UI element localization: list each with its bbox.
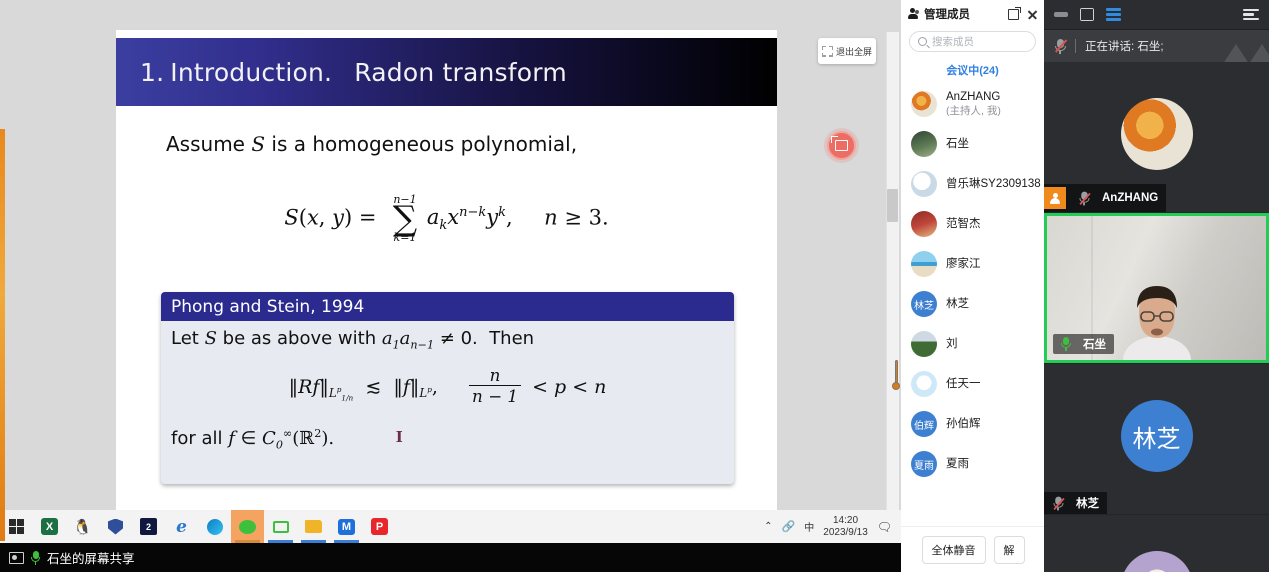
screen-share-status-strip: 石坐的屏幕共享 xyxy=(0,543,901,572)
system-tray: ⌃ 🔗 中 14:20 2023/9/13 🗨 xyxy=(764,515,901,538)
shared-app-scrollbar-track[interactable] xyxy=(886,32,899,510)
search-input[interactable] xyxy=(932,36,1027,48)
participant-name: 范智杰 xyxy=(946,217,981,231)
participant-name: 林芝 xyxy=(946,297,969,311)
slide-title-sub: Radon transform xyxy=(354,58,567,87)
participants-panel: 管理成员 会议中(24) AnZHANG(主持人, 我)石坐曾乐琳SY23091… xyxy=(901,0,1045,572)
participant-name: 任天一 xyxy=(946,377,981,391)
participant-role: (主持人, 我) xyxy=(946,105,1001,118)
wechat-icon xyxy=(239,520,256,534)
taskbar-item-tencent-meeting[interactable]: M xyxy=(330,510,363,543)
participants-title: 管理成员 xyxy=(924,6,970,22)
show-hidden-icons-chevron[interactable]: ⌃ xyxy=(764,521,772,532)
microphone-on-icon xyxy=(31,551,40,565)
video-tile-name: 林芝 xyxy=(1076,495,1099,511)
video-tile[interactable]: AnZHANG xyxy=(1044,62,1269,212)
participant-name: 夏雨 xyxy=(946,457,969,471)
slide-title: 1.Introduction.Radon transform xyxy=(116,58,567,87)
participant-row[interactable]: 任天一 xyxy=(901,364,1044,404)
microphone-on-icon xyxy=(1061,337,1071,351)
search-icon xyxy=(918,37,927,46)
video-tile[interactable]: 石坐 xyxy=(1044,213,1269,363)
screen-share-icon xyxy=(273,521,289,533)
avatar xyxy=(911,211,937,237)
slide-title-bar: 1.Introduction.Radon transform xyxy=(116,38,777,106)
theorem-line-3: for all f ∈ C0∞(ℝ2). I xyxy=(161,407,734,452)
excel-icon: X xyxy=(41,518,58,535)
avatar: 伯辉 xyxy=(911,411,937,437)
eq-condition: n xyxy=(544,205,558,229)
participants-list[interactable]: AnZHANG(主持人, 我)石坐曾乐琳SY2309138范智杰廖家江林芝林芝刘… xyxy=(901,84,1044,508)
edge-icon xyxy=(207,519,223,535)
screen-share-border-indicator xyxy=(0,129,5,541)
video-tile[interactable]: 林芝林芝 xyxy=(1044,364,1269,514)
displayed-equation: S(x, y) = n−1 ∑ k=1 akxn−kyk, n ≥ 3. xyxy=(116,194,777,244)
participant-row[interactable]: 廖家江 xyxy=(901,244,1044,284)
taskbar-item-excel[interactable]: X xyxy=(33,510,66,543)
theorem-title: Phong and Stein, 1994 xyxy=(171,297,364,317)
share-screen-icon xyxy=(835,140,848,151)
watermark-logo xyxy=(1223,34,1269,62)
avatar xyxy=(1121,551,1193,572)
collapse-sidebar-icon[interactable] xyxy=(1243,9,1259,21)
people-icon xyxy=(907,8,920,20)
participant-row[interactable]: 夏雨夏雨 xyxy=(901,444,1044,484)
slide-body: Assume S is a homogeneous polynomial, S(… xyxy=(116,106,777,510)
sum-lower-limit: k=1 xyxy=(393,232,417,244)
unmute-all-button[interactable]: 解 xyxy=(994,536,1025,564)
video-tile-nametag: AnZHANG xyxy=(1044,184,1166,212)
screen-icon xyxy=(9,552,24,564)
avatar: 夏雨 xyxy=(911,451,937,477)
shared-screen-region: 1.Introduction.Radon transform Assume S … xyxy=(0,0,901,572)
participant-name: 孙伯辉 xyxy=(946,417,981,431)
taskbar-item-game[interactable]: 2 xyxy=(132,510,165,543)
internet-explorer-icon: e xyxy=(176,517,187,537)
taskbar-item-screen-share[interactable] xyxy=(264,510,297,543)
divider xyxy=(1075,39,1076,53)
avatar xyxy=(911,131,937,157)
taskbar-item-microsoft-edge[interactable] xyxy=(198,510,231,543)
game-icon: 2 xyxy=(140,518,157,535)
participant-row[interactable]: 范智杰 xyxy=(901,204,1044,244)
microphone-muted-icon xyxy=(1078,191,1089,205)
avatar xyxy=(911,171,937,197)
taskbar-clock[interactable]: 14:20 2023/9/13 xyxy=(823,515,868,538)
participants-section-label: 会议中(24) xyxy=(901,58,1044,84)
avatar xyxy=(911,371,937,397)
thermometer-icon xyxy=(892,360,900,396)
host-badge xyxy=(1044,187,1066,209)
restore-window-icon[interactable] xyxy=(1080,8,1094,21)
participant-name: 廖家江 xyxy=(946,257,981,271)
close-icon[interactable] xyxy=(1027,9,1038,20)
eq-term: akxn−kyk xyxy=(427,205,506,229)
avatar: 林芝 xyxy=(911,291,937,317)
participants-search-wrap xyxy=(901,28,1044,58)
shared-app-scrollbar-thumb[interactable] xyxy=(887,189,898,222)
share-status-label: 石坐的屏幕共享 xyxy=(47,548,135,567)
video-tile-nametag: 林芝 xyxy=(1044,492,1107,514)
exit-fullscreen-button[interactable]: 退出全屏 xyxy=(818,38,876,64)
ime-indicator[interactable]: 中 xyxy=(804,519,814,534)
windows-taskbar: X 🐧 2 e xyxy=(0,510,901,543)
participant-name: AnZHANG(主持人, 我) xyxy=(946,90,1001,118)
slide-title-main: Introduction. xyxy=(170,58,332,87)
video-tile-name: 石坐 xyxy=(1083,336,1106,352)
avatar: 林芝 xyxy=(1121,400,1193,472)
assume-text-a: Assume xyxy=(166,132,245,156)
video-sidebar: 正在讲话: 石坐; AnZHANG石坐林芝林芝魏银璐 xyxy=(1044,0,1269,572)
slide-title-number: 1. xyxy=(140,58,164,87)
microphone-muted-icon xyxy=(1054,39,1066,54)
text-cursor-ibeam: I xyxy=(396,428,403,446)
video-tile[interactable]: 魏银璐 xyxy=(1044,515,1269,572)
taskbar-item-file-explorer[interactable] xyxy=(297,510,330,543)
tencent-meeting-icon: M xyxy=(338,519,355,535)
video-panel-titlebar xyxy=(1044,0,1269,30)
minimize-icon[interactable] xyxy=(1054,12,1068,17)
layout-view-icon[interactable] xyxy=(1106,8,1121,21)
folder-icon xyxy=(305,520,322,533)
popout-icon[interactable] xyxy=(1008,9,1019,20)
assume-line: Assume S is a homogeneous polynomial, xyxy=(166,132,577,156)
participant-row[interactable]: 曾乐琳SY2309138 xyxy=(901,164,1044,204)
avatar xyxy=(911,251,937,277)
exit-fullscreen-label: 退出全屏 xyxy=(836,45,872,58)
participant-row[interactable]: 石坐 xyxy=(901,124,1044,164)
eq-lhs: S xyxy=(284,205,298,229)
video-tiles-container: AnZHANG石坐林芝林芝魏银璐 xyxy=(1044,62,1269,572)
participant-row[interactable]: AnZHANG(主持人, 我) xyxy=(901,84,1044,124)
participant-row[interactable]: 林芝林芝 xyxy=(901,284,1044,324)
sum-symbol: ∑ xyxy=(393,206,417,233)
participant-name: 石坐 xyxy=(946,137,969,151)
assume-variable: S xyxy=(251,132,265,156)
avatar xyxy=(911,331,937,357)
fraction-numerator: n xyxy=(469,367,521,385)
theorem-equation: ‖Rf‖Lp1/n ≲ ‖f‖Lp, n n − 1 < p < n xyxy=(161,368,734,408)
fraction: n n − 1 xyxy=(469,367,521,407)
theorem-box: Phong and Stein, 1994 Let S be as above … xyxy=(161,292,734,484)
fullscreen-icon xyxy=(822,46,833,57)
taskbar-item-wechat[interactable] xyxy=(231,510,264,543)
participants-footer: 全体静音 解 xyxy=(901,526,1045,572)
avatar xyxy=(911,91,937,117)
notification-center-icon[interactable]: 🗨 xyxy=(877,520,892,534)
clock-date: 2023/9/13 xyxy=(823,527,868,538)
shield-icon xyxy=(108,519,123,535)
microphone-muted-icon xyxy=(1052,496,1063,510)
link-icon[interactable]: 🔗 xyxy=(782,520,796,533)
taskbar-item-internet-explorer[interactable]: e xyxy=(165,510,198,543)
search-box[interactable] xyxy=(909,31,1036,52)
avatar xyxy=(1121,98,1193,170)
participant-name: 刘 xyxy=(946,337,958,351)
now-speaking-bar: 正在讲话: 石坐; xyxy=(1044,30,1269,62)
participants-header: 管理成员 xyxy=(901,0,1044,28)
now-speaking-label: 正在讲话: 石坐; xyxy=(1085,38,1164,54)
taskbar-item-qq[interactable]: 🐧 xyxy=(66,510,99,543)
assume-text-b: is a homogeneous polynomial, xyxy=(271,132,577,156)
theorem-line-1: Let S be as above with a1an−1 ≠ 0. Then xyxy=(161,321,734,352)
participant-row[interactable]: 刘 xyxy=(901,324,1044,364)
participant-name: 曾乐琳SY2309138 xyxy=(946,177,1041,191)
video-tile-name: AnZHANG xyxy=(1102,192,1158,204)
taskbar-item-pdf-reader[interactable]: P xyxy=(363,510,396,543)
theorem-header: Phong and Stein, 1994 xyxy=(161,292,734,321)
clock-time: 14:20 xyxy=(833,515,858,526)
pdf-icon: P xyxy=(371,518,388,535)
windows-logo-icon xyxy=(9,519,24,534)
qq-penguin-icon: 🐧 xyxy=(73,518,92,536)
taskbar-item-security[interactable] xyxy=(99,510,132,543)
fraction-denominator: n − 1 xyxy=(469,387,521,406)
participant-row[interactable]: 伯辉孙伯辉 xyxy=(901,404,1044,444)
summation: n−1 ∑ k=1 xyxy=(393,194,417,244)
mute-all-button[interactable]: 全体静音 xyxy=(922,536,986,564)
screen-root: 1.Introduction.Radon transform Assume S … xyxy=(0,0,1269,572)
floating-share-button[interactable] xyxy=(827,131,856,160)
video-tile-nametag: 石坐 xyxy=(1053,334,1114,354)
